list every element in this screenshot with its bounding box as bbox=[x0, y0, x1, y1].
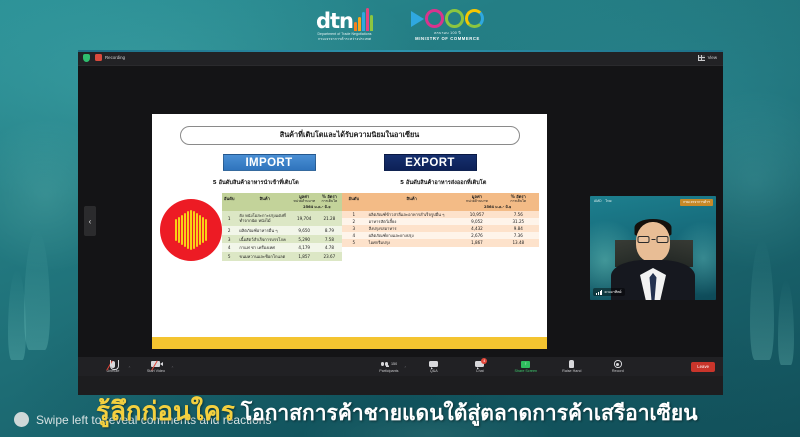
slide-subtitles: 5 อันดับสินค้าอาหารนำเข้าที่เติบโต 5 อัน… bbox=[152, 179, 547, 187]
toolbar-label-raise-hand: Raise Hand bbox=[562, 369, 581, 373]
cell-item: ผลิตภัณฑ์อาหารอื่น ๆ bbox=[236, 226, 291, 235]
cell-rank: 4 bbox=[342, 232, 366, 239]
export-column: อันดับ สินค้า มูลค่าหน่วยล้านบาท % อัตรา… bbox=[342, 193, 539, 261]
import-column: อันดับ สินค้า มูลค่าหน่วยล้านบาท % อัตรา… bbox=[160, 193, 342, 261]
broadcast-headline: รู้ลึกก่อนใคร โอกาสการค้าชายแดนใต้สู่ตลา… bbox=[96, 391, 698, 432]
speaker-name-plate: ดวงอาทิตย์ bbox=[593, 288, 625, 296]
speaker-label-1: AMD bbox=[594, 199, 602, 204]
chat-unread-badge: 4 bbox=[481, 358, 487, 364]
cell-growth: 7.56 bbox=[498, 211, 539, 218]
cell-growth: 7.58 bbox=[317, 235, 342, 244]
zoom-content-area: ‹ สินค้าที่เติบโตและได้รับความนิยมในอาเซ… bbox=[78, 66, 723, 376]
toolbar-label-share-screen: Share Screen bbox=[515, 369, 538, 373]
slide-accent-bar bbox=[152, 337, 547, 349]
dtn-logo-row: dtn bbox=[316, 8, 373, 31]
table-row: 5ขนมหวานและช็อกโกแลต1,85723.67 bbox=[222, 252, 342, 261]
bottom-overlay: Swipe left to reveal comments and reacti… bbox=[0, 395, 800, 437]
leave-button[interactable]: Leave bbox=[691, 362, 715, 372]
cell-rank: 3 bbox=[342, 225, 366, 232]
cell-rank: 1 bbox=[222, 211, 236, 226]
recording-label: Recording bbox=[105, 55, 125, 60]
ring-multicolor-icon bbox=[465, 9, 484, 28]
slide-title-text: สินค้าที่เติบโตและได้รับความนิยมในอาเซีย… bbox=[280, 130, 420, 141]
top-logo-band: dtn Department of Trade Negotiations กรม… bbox=[0, 0, 800, 50]
th-growth: % อัตราการเติบโต bbox=[498, 193, 539, 204]
speaker-org-badge: กรมเจรจาการค้าฯ bbox=[680, 199, 713, 206]
toolbar-label-qa: Q&A bbox=[430, 369, 438, 373]
th-growth-unit: การเติบโต bbox=[499, 199, 537, 203]
export-button[interactable]: EXPORT bbox=[384, 154, 477, 171]
import-subtitle: 5 อันดับสินค้าอาหารนำเข้าที่เติบโต bbox=[162, 179, 350, 187]
moc-logo: ครบรอบ 100 ปี MINISTRY OF COMMERCE bbox=[411, 9, 484, 41]
toolbar-label-start-video: Start Video bbox=[147, 369, 165, 373]
th-item: สินค้า bbox=[236, 193, 291, 204]
speaker-glasses bbox=[638, 235, 669, 243]
zoom-toolbar: Unmute ⌃ Start Video ⌃ 150 Participants … bbox=[78, 357, 723, 376]
toolbar-item-raise-hand[interactable]: Raise Hand bbox=[557, 357, 587, 376]
cell-rank: 1 bbox=[342, 211, 366, 218]
cell-growth: 7.36 bbox=[498, 232, 539, 239]
cell-item: ขนมหวานและช็อกโกแลต bbox=[236, 252, 291, 261]
cell-value: 5,290 bbox=[292, 235, 317, 244]
moc-caption-en: MINISTRY OF COMMERCE bbox=[415, 36, 480, 41]
th-growth-unit: การเติบโต bbox=[318, 199, 340, 203]
zoom-meeting-window: Recording View ‹ สินค้าที่เติบโตและได้รั… bbox=[78, 50, 723, 395]
cell-value: 2,676 bbox=[456, 232, 497, 239]
th-rank: อันดับ bbox=[342, 193, 366, 204]
cell-rank: 2 bbox=[342, 218, 366, 225]
th-value: มูลค่าหน่วยล้านบาท bbox=[456, 193, 497, 204]
cell-rank: 5 bbox=[222, 252, 236, 261]
chat-bubble-icon: 4 bbox=[475, 360, 484, 368]
chevron-up-icon-mic[interactable]: ⌃ bbox=[128, 366, 131, 370]
cell-value: 4,432 bbox=[456, 225, 497, 232]
recording-indicator[interactable]: Recording bbox=[95, 54, 125, 61]
toolbar-label-unmute: Unmute bbox=[107, 369, 120, 373]
cell-value: 9,650 bbox=[292, 226, 317, 235]
dtn-wordmark: dtn bbox=[316, 11, 353, 31]
zoom-window-titlebar: Recording View bbox=[78, 50, 723, 66]
cell-rank: 3 bbox=[222, 235, 236, 244]
cell-growth: 9.84 bbox=[498, 225, 539, 232]
th-value-unit: หน่วยล้านบาท bbox=[293, 199, 315, 203]
import-table-head: อันดับ สินค้า มูลค่าหน่วยล้านบาท % อัตรา… bbox=[222, 193, 342, 211]
table-row: 3เนื้อสัตว์สำเร็จการบรรโภค5,2907.58 bbox=[222, 235, 342, 244]
table-row: 1ยัง หนังโอสะกาะปรุงแต่งที่ทำจากนัด หนัง… bbox=[222, 211, 342, 226]
moc-logo-row bbox=[411, 9, 484, 28]
asean-rice-stalks bbox=[175, 210, 207, 250]
dtn-logo: dtn Department of Trade Negotiations กรม… bbox=[316, 8, 373, 43]
record-stop-icon bbox=[95, 54, 102, 61]
grid-view-icon bbox=[698, 55, 705, 61]
export-header-row: อันดับ สินค้า มูลค่าหน่วยล้านบาท % อัตรา… bbox=[342, 193, 539, 204]
headline-rest: โอกาสการค้าชายแดนใต้สู่ตลาดการค้าเสรีอาเ… bbox=[241, 397, 698, 430]
ring-green-icon bbox=[445, 9, 464, 28]
table-row: 5ไอศกรีมปรุง1,86713.48 bbox=[342, 239, 539, 246]
chevron-up-icon-participants[interactable]: ⌃ bbox=[404, 366, 407, 370]
toolbar-item-participants[interactable]: 150 Participants bbox=[374, 357, 404, 376]
cell-value: 19,704 bbox=[292, 211, 317, 226]
cell-item: ไอศกรีมปรุง bbox=[366, 239, 457, 246]
cell-value: 1,867 bbox=[456, 239, 497, 246]
cell-rank: 2 bbox=[222, 226, 236, 235]
security-shield-icon[interactable] bbox=[83, 54, 90, 62]
ring-magenta-icon bbox=[425, 9, 444, 28]
toolbar-label-participants: Participants bbox=[379, 369, 398, 373]
cell-growth: 23.67 bbox=[317, 252, 342, 261]
speaker-name-text: ดวงอาทิตย์ bbox=[604, 289, 621, 295]
th-growth: % อัตราการเติบโต bbox=[317, 193, 342, 204]
table-row: 4ผลิตภัณฑ์ยางและยางปรุง2,6767.36 bbox=[342, 232, 539, 239]
table-row: 2อาหารสัตว์เลี้ยง9,05231.25 bbox=[342, 218, 539, 225]
cell-value: 9,052 bbox=[456, 218, 497, 225]
asean-logo-wrap bbox=[160, 193, 222, 261]
camera-muted-icon bbox=[151, 360, 160, 368]
avatar bbox=[14, 412, 29, 427]
toolbar-item-record[interactable]: Record bbox=[603, 357, 633, 376]
speech-bubbles-icon bbox=[429, 360, 438, 368]
import-table-body: 1ยัง หนังโอสะกาะปรุงแต่งที่ทำจากนัด หนัง… bbox=[222, 211, 342, 261]
toolbar-item-qa[interactable]: Q&A bbox=[419, 357, 449, 376]
dtn-caption-th: กรมเจรจาการค้าระหว่างประเทศ bbox=[318, 36, 371, 42]
cell-item: เนื้อสัตว์สำเร็จการบรรโภค bbox=[236, 235, 291, 244]
people-icon: 150 bbox=[381, 360, 398, 368]
play-triangle-icon bbox=[411, 11, 424, 27]
hand-icon bbox=[569, 360, 574, 368]
table-row: 2ผลิตภัณฑ์อาหารอื่น ๆ9,6508.79 bbox=[222, 226, 342, 235]
cell-value: 4,179 bbox=[292, 243, 317, 252]
import-header-row: อันดับ สินค้า มูลค่าหน่วยล้านบาท % อัตรา… bbox=[222, 193, 342, 204]
th-item: สินค้า bbox=[366, 193, 457, 204]
view-label: View bbox=[708, 55, 717, 60]
share-screen-icon: ↑ bbox=[521, 360, 530, 368]
toolbar-item-start-video[interactable]: Start Video bbox=[141, 357, 171, 376]
speaker-org-text: กรมเจรจาการค้าฯ bbox=[683, 200, 710, 205]
export-table: อันดับ สินค้า มูลค่าหน่วยล้านบาท % อัตรา… bbox=[342, 193, 539, 247]
titlebar-accent-line bbox=[78, 50, 723, 52]
cell-value: 1,857 bbox=[292, 252, 317, 261]
toolbar-label-chat: Chat bbox=[476, 369, 484, 373]
microphone-muted-icon bbox=[111, 360, 115, 368]
slide-tables: อันดับ สินค้า มูลค่าหน่วยล้านบาท % อัตรา… bbox=[152, 193, 547, 261]
headline-highlight: รู้ลึกก่อนใคร bbox=[96, 391, 235, 432]
cell-item: อาหารสัตว์เลี้ยง bbox=[366, 218, 457, 225]
th-value: มูลค่าหน่วยล้านบาท bbox=[292, 193, 317, 204]
shared-slide: สินค้าที่เติบโตและได้รับความนิยมในอาเซีย… bbox=[152, 114, 547, 349]
speaker-label-2: ไทย bbox=[606, 199, 612, 204]
slide-title-box: สินค้าที่เติบโตและได้รับความนิยมในอาเซีย… bbox=[180, 126, 520, 145]
speaker-video-tile[interactable]: AMD ไทย กรมเจรจาการค้าฯ ดวงอาทิตย์ bbox=[590, 196, 716, 300]
cell-rank: 5 bbox=[342, 239, 366, 246]
cell-value: 10,957 bbox=[456, 211, 497, 218]
table-row: 4กาแฟ ชา เครื่องเทศ4,1794.78 bbox=[222, 243, 342, 252]
table-row: 3สิ่งปรุงรสอาหาร4,4329.84 bbox=[342, 225, 539, 232]
speaker-top-labels: AMD ไทย bbox=[594, 199, 611, 204]
cell-rank: 4 bbox=[222, 243, 236, 252]
cell-growth: 21.28 bbox=[317, 211, 342, 226]
slide-mode-buttons: IMPORT EXPORT bbox=[152, 154, 547, 171]
toolbar-item-share-screen[interactable]: ↑ Share Screen bbox=[511, 357, 541, 376]
asean-emblem-icon bbox=[160, 199, 222, 261]
cell-item: ยัง หนังโอสะกาะปรุงแต่งที่ทำจากนัด หนังไ… bbox=[236, 211, 291, 226]
import-table: อันดับ สินค้า มูลค่าหน่วยล้านบาท % อัตรา… bbox=[222, 193, 342, 261]
import-button[interactable]: IMPORT bbox=[223, 154, 316, 171]
previous-page-arrow[interactable]: ‹ bbox=[84, 206, 96, 236]
cell-growth: 31.25 bbox=[498, 218, 539, 225]
export-table-body: 1ผลิตภัณฑ์ข้าวสาลีและอาหารสำเร็จรูปอื่น … bbox=[342, 211, 539, 247]
view-button[interactable]: View bbox=[698, 55, 717, 61]
cell-item: ผลิตภัณฑ์ข้าวสาลีและอาหารสำเร็จรูปอื่น ๆ bbox=[366, 211, 457, 218]
dtn-chart-bars-icon bbox=[354, 8, 373, 31]
cell-item: กาแฟ ชา เครื่องเทศ bbox=[236, 243, 291, 252]
signal-bars-icon bbox=[596, 290, 602, 295]
th-rank: อันดับ bbox=[222, 193, 236, 204]
participants-count: 150 bbox=[391, 362, 397, 366]
toolbar-label-record: Record bbox=[612, 369, 624, 373]
record-icon bbox=[614, 360, 622, 368]
table-row: 1ผลิตภัณฑ์ข้าวสาลีและอาหารสำเร็จรูปอื่น … bbox=[342, 211, 539, 218]
screen-root: dtn Department of Trade Negotiations กรม… bbox=[0, 0, 800, 437]
cell-item: ผลิตภัณฑ์ยางและยางปรุง bbox=[366, 232, 457, 239]
cell-growth: 4.78 bbox=[317, 243, 342, 252]
cell-growth: 13.48 bbox=[498, 239, 539, 246]
export-subtitle: 5 อันดับสินค้าอาหารส่งออกที่เติบโต bbox=[350, 179, 538, 187]
toolbar-item-chat[interactable]: 4 Chat bbox=[465, 357, 495, 376]
cell-item: สิ่งปรุงรสอาหาร bbox=[366, 225, 457, 232]
toolbar-item-unmute[interactable]: Unmute bbox=[98, 357, 128, 376]
th-value-unit: หน่วยล้านบาท bbox=[458, 199, 496, 203]
chevron-up-icon-video[interactable]: ⌃ bbox=[171, 366, 174, 370]
cell-growth: 8.79 bbox=[317, 226, 342, 235]
export-table-head: อันดับ สินค้า มูลค่าหน่วยล้านบาท % อัตรา… bbox=[342, 193, 539, 211]
